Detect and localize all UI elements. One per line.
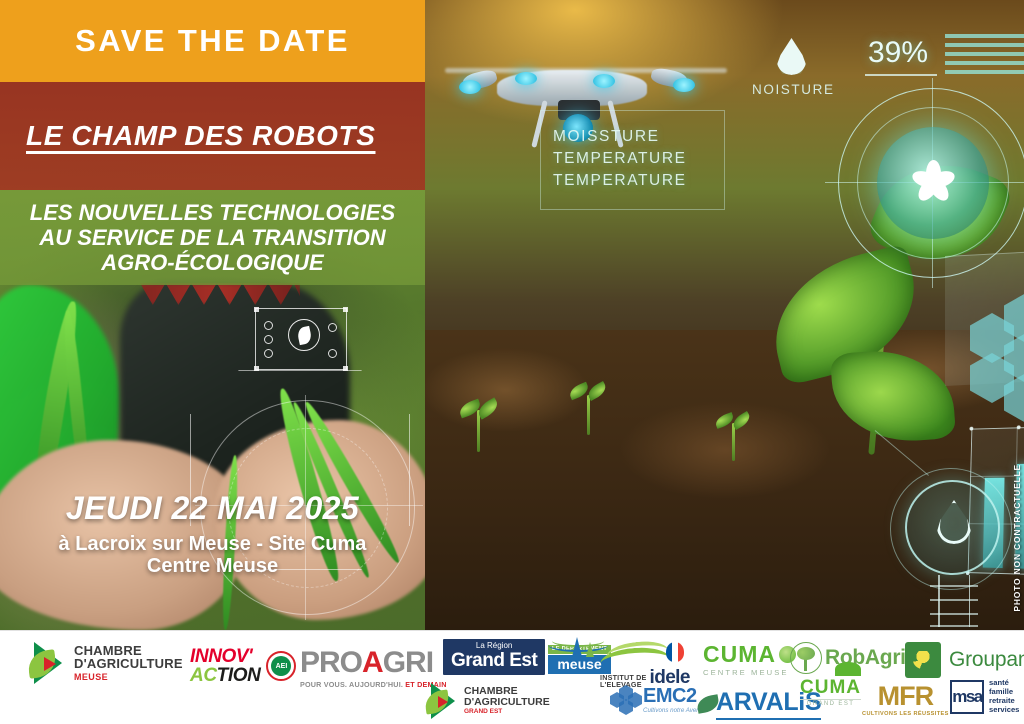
panel-corner-icon [254, 307, 259, 312]
mfr-tagline: CULTIVONS LES RÉUSSITES [862, 712, 949, 718]
poster-title: LE CHAMP DES ROBOTS [0, 120, 376, 152]
sun-icon [328, 323, 337, 332]
band-save-the-date: SAVE THE DATE [0, 0, 425, 82]
water-drop-icon [777, 38, 806, 75]
hud-readout: MOISSTURE TEMPERATURE TEMPERATURE [553, 126, 687, 192]
droplet-icon [264, 335, 273, 344]
aei-badge-icon: AEI [266, 651, 296, 681]
drone-led [593, 74, 615, 88]
french-flag-icon [666, 642, 684, 662]
poster-root: SAVE THE DATE LE CHAMP DES ROBOTS LES NO… [0, 0, 1024, 724]
logo-msa[interactable]: msa santé famille retraite services [950, 679, 1019, 715]
logo-chambre-dagriculture-grand-est[interactable]: CHAMBRE D'AGRICULTURE GRAND EST [425, 683, 550, 719]
left-panel: SAVE THE DATE LE CHAMP DES ROBOTS LES NO… [0, 0, 425, 630]
emc2-tagline: Cultivons notre Avenir [643, 708, 703, 714]
hud-readout-line-3: TEMPERATURE [553, 170, 687, 192]
right-panel: MOISSTURE TEMPERATURE TEMPERATURE NOISTU… [425, 0, 1024, 630]
hud-readout-line-2: TEMPERATURE [553, 148, 687, 170]
event-location: à Lacroix sur Meuse - Site Cuma Centre M… [0, 533, 425, 578]
logo-line-2: D'AGRICULTURE [74, 657, 183, 670]
groupama-wordmark: Groupama [949, 648, 1024, 672]
proagri-wordmark: PROAGRI [300, 648, 447, 678]
action-line: ACTION [190, 666, 260, 685]
chambre-agriculture-mark-icon [425, 683, 459, 719]
gear-icon [264, 321, 273, 330]
save-the-date-text: SAVE THE DATE [0, 23, 425, 59]
percent-underline [865, 74, 937, 76]
event-location-line-1: à Lacroix sur Meuse - Site Cuma [18, 533, 407, 555]
panel-corner-icon [254, 366, 259, 371]
tree-icon [790, 642, 822, 674]
photo-credit-text: PHOTO NON CONTRACTUELLE [1012, 464, 1022, 612]
logo-line-3: MEUSE [74, 673, 183, 682]
hud-signal-bars-icon [945, 34, 1024, 78]
logo-line-2: D'AGRICULTURE [464, 697, 550, 708]
logo-mfr[interactable]: MFR CULTIVONS LES RÉUSSITES [862, 683, 949, 718]
drone-led [515, 72, 537, 85]
innov-line: INNOV' [190, 647, 260, 666]
emc2-hex-icon [610, 685, 640, 715]
hexagon-grid-icon [970, 275, 1024, 425]
region-label: La Région [451, 642, 537, 650]
groupama-mark-icon [905, 642, 941, 678]
event-details: JEUDI 22 MAI 2025 à Lacroix sur Meuse - … [0, 490, 425, 578]
logo-emc2[interactable]: EMC2 Cultivons notre Avenir [610, 685, 703, 715]
logo-groupama[interactable]: Groupama [905, 642, 1024, 678]
logo-institut-elevage-idele[interactable]: INSTITUT DE L'ELEVAGE idele [600, 640, 690, 689]
logo-innov-action[interactable]: INNOV' ACTION AEI [190, 647, 296, 685]
band-subtitle: LES NOUVELLES TECHNOLOGIES AU SERVICE DE… [0, 190, 425, 285]
panel-corner-icon [343, 307, 348, 312]
drone-led [459, 80, 481, 94]
flower-icon [913, 160, 955, 206]
leaf-icon [288, 319, 320, 351]
droplet-stand-ladder [930, 575, 978, 627]
mfr-wordmark: MFR [862, 683, 949, 710]
idele-arc-icon [600, 640, 686, 666]
subtitle-line-2: AU SERVICE DE LA TRANSITION [8, 225, 417, 250]
chambre-agriculture-mark-icon [28, 642, 68, 684]
cuma-wordmark: CUMA [703, 643, 796, 666]
logo-chambre-dagriculture-meuse[interactable]: CHAMBRE D'AGRICULTURE MEUSE [28, 642, 183, 684]
panel-corner-icon [343, 366, 348, 371]
partner-logo-bar: CHAMBRE D'AGRICULTURE MEUSE INNOV' ACTIO… [0, 630, 1024, 724]
msa-mark-icon: msa [950, 680, 984, 714]
logo-line-1: CHAMBRE [74, 644, 183, 657]
hud-readout-line-1: MOISSTURE [553, 126, 687, 148]
msa-line-4: services [989, 706, 1019, 715]
event-location-line-2: Centre Meuse [18, 555, 407, 577]
event-date: JEUDI 22 MAI 2025 [0, 490, 425, 527]
cuma-subtitle: CENTRE MEUSE [703, 669, 796, 677]
subtitle-line-1: LES NOUVELLES TECHNOLOGIES [8, 200, 417, 225]
drone-led [673, 78, 695, 92]
cuma-wordmark: CUMA [800, 677, 861, 699]
logo-cuma-grand-est[interactable]: CUMA GRAND EST [800, 676, 861, 707]
thermometer-icon [264, 349, 273, 358]
band-title: LE CHAMP DES ROBOTS [0, 82, 425, 190]
logo-region-grand-est[interactable]: La Région Grand Est [443, 639, 545, 675]
moisture-percent: 39% [868, 36, 928, 70]
logo-line-3: GRAND EST [464, 709, 550, 716]
cuma-subtitle: GRAND EST [800, 699, 861, 707]
emc2-wordmark: EMC2 [643, 686, 703, 706]
logo-cuma-centre-meuse[interactable]: CUMA CENTRE MEUSE [703, 643, 796, 677]
hud-info-panel [255, 308, 347, 370]
subtitle-line-3: AGRO-ÉCOLOGIQUE [8, 250, 417, 275]
seed-icon [328, 349, 337, 358]
moisture-label: NOISTURE [752, 82, 835, 97]
poster-subtitle: LES NOUVELLES TECHNOLOGIES AU SERVICE DE… [0, 200, 425, 275]
grand-est-wordmark: Grand Est [451, 651, 537, 670]
